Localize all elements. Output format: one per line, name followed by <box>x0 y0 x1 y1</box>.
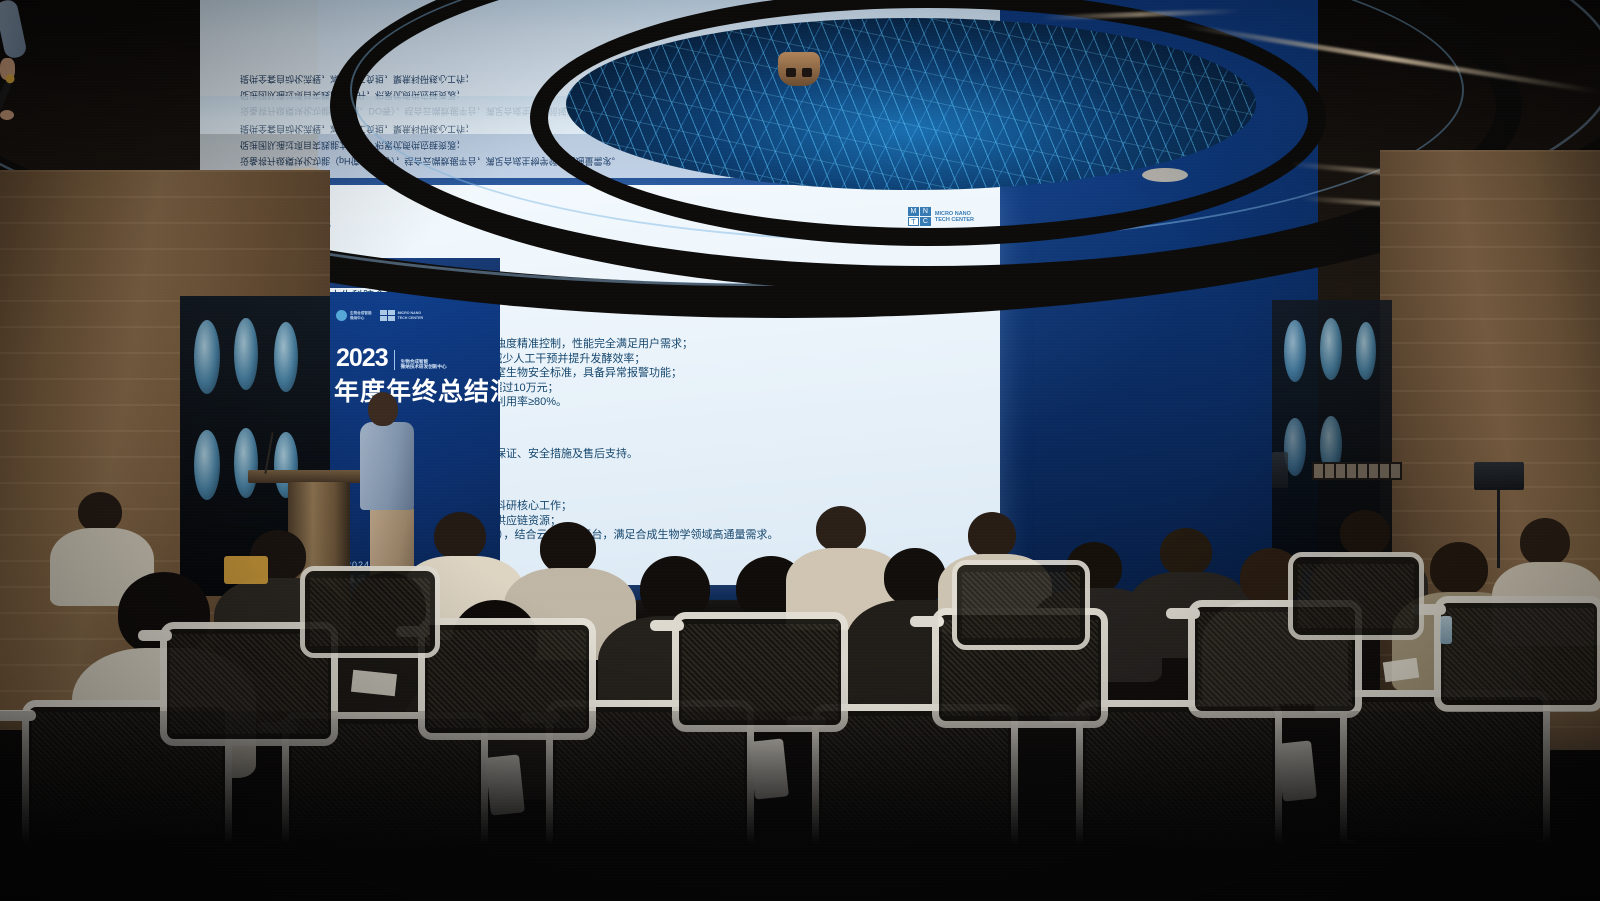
pa-speaker-right <box>1474 462 1524 490</box>
ceiling-dome-lamp <box>778 52 820 86</box>
audience-head <box>540 522 596 574</box>
reflection2-line-1: 设备将升级模块化功能（pH值、DO等），结合云端数据平台，满足合成生物学领域高通… <box>240 155 621 168</box>
logo-cell-n: N <box>920 207 931 216</box>
slide-logo: M N T C MICRO NANO TECH CENTER <box>908 207 974 226</box>
audience-head <box>816 506 866 552</box>
audience-head <box>1160 528 1212 576</box>
audience-head <box>1340 510 1390 556</box>
screenshot-root: 设备将升级模块化功能（pH值、DO等），结合云端数据平台，满足合成生物学领域高通… <box>0 0 1600 901</box>
banner-logos: 生物合成智能微纳中心 MICRO NANOTECH CENTER <box>336 310 423 321</box>
circuit-globe-reflection <box>566 18 1256 190</box>
banner-year-row: 2023 生物合成智能 微纳技术研发创新中心 <box>336 344 447 373</box>
presenter-hand <box>0 110 14 120</box>
slide-logo-line2: TECH CENTER <box>935 217 974 223</box>
notebook <box>351 670 397 696</box>
banner-upper-strip <box>322 258 500 288</box>
audience-head <box>1430 542 1488 596</box>
banner-logo-right: MICRO NANOTECH CENTER <box>380 310 424 321</box>
banner-logo-left: 生物合成智能微纳中心 <box>336 310 372 321</box>
banner-year: 2023 <box>336 344 388 373</box>
audience-head <box>78 492 122 532</box>
circuit-traces <box>566 18 1256 190</box>
logo-mark-icon: M N T C <box>908 207 931 226</box>
swirl-icon <box>336 310 347 321</box>
grid-mark-icon <box>380 310 395 321</box>
wall-light-panel <box>1312 462 1402 480</box>
logo-cell-c: C <box>920 217 931 226</box>
handheld-microphone <box>0 80 12 110</box>
audience-head <box>968 512 1016 558</box>
banner-divider <box>394 350 395 370</box>
presenter-torso <box>360 422 414 510</box>
chair <box>300 566 440 658</box>
speaker-stand-right <box>1497 490 1500 568</box>
presenter-head <box>368 392 398 426</box>
banner-logo-right-text: MICRO NANOTECH CENTER <box>398 311 424 320</box>
chair <box>952 560 1090 650</box>
banner-logo-left-text: 生物合成智能微纳中心 <box>350 311 372 320</box>
audience-head <box>1520 518 1570 566</box>
reflection2-line-3: 提供全套自动化流程，减轻人工负担，聚焦科研核心工作； <box>240 123 474 136</box>
reflection-line-3: 提供全套自动化流程，减轻人工负担，聚焦科研核心工作； <box>240 73 474 86</box>
water-bottle <box>1440 616 1452 644</box>
banner-org-line2: 微纳技术研发创新中心 <box>401 364 447 369</box>
audience-head <box>434 512 486 560</box>
slide-logo-text: MICRO NANO TECH CENTER <box>935 211 974 223</box>
audience-head <box>884 548 946 606</box>
banner-headline: 年度年终总结汇报 <box>334 372 500 408</box>
banner-org: 生物合成智能 微纳技术研发创新中心 <box>401 359 447 370</box>
ceiling-downlight-2 <box>1142 168 1188 182</box>
chair <box>1288 552 1424 640</box>
logo-cell-m: M <box>908 207 919 216</box>
pa-speaker-right-2 <box>1272 452 1288 488</box>
floor <box>0 711 1600 901</box>
logo-cell-t: T <box>908 217 919 226</box>
chair <box>1434 596 1600 712</box>
orange-folder <box>224 556 268 584</box>
presenter <box>0 0 22 120</box>
reflection2-line-2: 促进团队通过项目实践能力提升，积累优质供应链资源； <box>240 139 465 152</box>
